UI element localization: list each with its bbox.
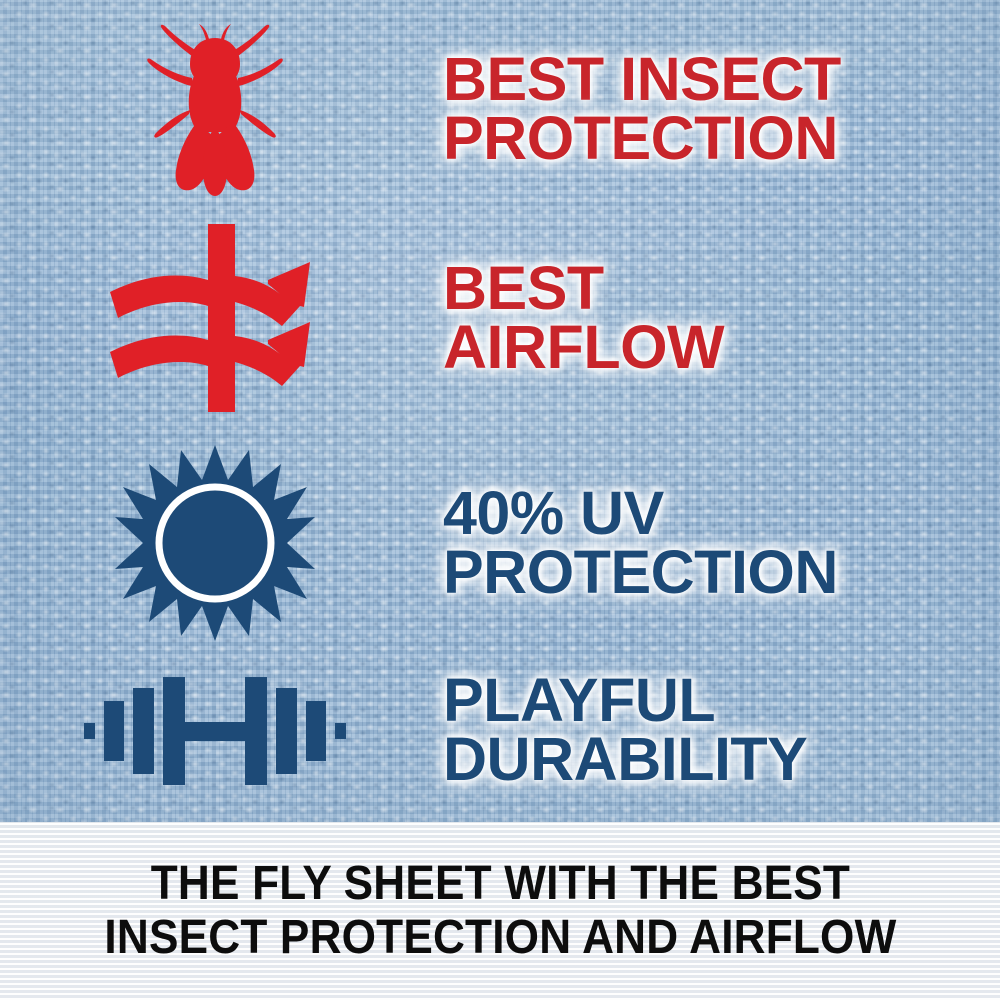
feature-label-insect-protection: BEST INSECT PROTECTION [443,50,1000,167]
feature-row-durability: PLAYFUL DURABILITY [0,650,1000,810]
feature-label-durability: PLAYFUL DURABILITY [443,671,1000,788]
fly-icon [140,18,290,200]
icon-cell-airflow [0,224,430,412]
caption-band: THE FLY SHEET WITH THE BEST INSECT PROTE… [0,822,1000,1000]
feature-label-airflow: BEST AIRFLOW [443,259,1000,376]
sun-burst-shape [115,445,315,641]
icon-cell-uv-protection [0,443,430,643]
feature-row-uv-protection: 40% UV PROTECTION [0,440,1000,645]
feature-row-insect-protection: BEST INSECT PROTECTION [0,14,1000,204]
sun-icon [115,443,315,643]
icon-cell-insect-protection [0,18,430,200]
label-cell-insect-protection: BEST INSECT PROTECTION [430,50,1000,167]
icon-cell-durability [0,663,430,797]
airflow-icon [104,224,326,412]
product-feature-infographic: BEST INSECT PROTECTION [0,0,1000,1000]
label-cell-airflow: BEST AIRFLOW [430,259,1000,376]
label-cell-uv-protection: 40% UV PROTECTION [430,484,1000,601]
label-cell-durability: PLAYFUL DURABILITY [430,671,1000,788]
caption-headline: THE FLY SHEET WITH THE BEST INSECT PROTE… [104,857,896,965]
feature-label-uv-protection: 40% UV PROTECTION [443,484,1000,601]
dumbbell-icon [84,663,346,797]
feature-row-airflow: BEST AIRFLOW [0,222,1000,414]
